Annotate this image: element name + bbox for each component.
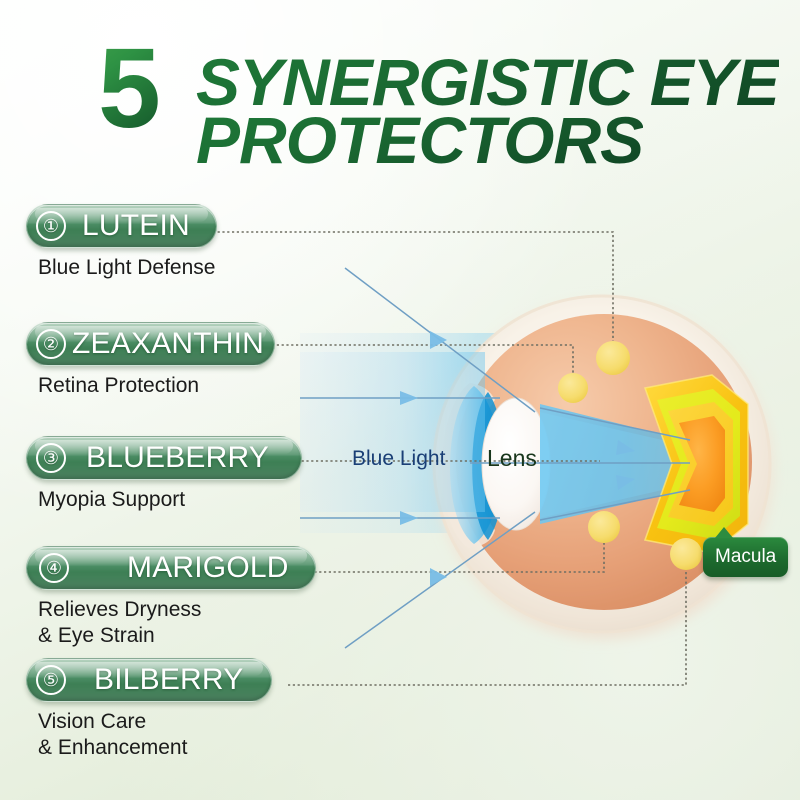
ingredient-item-bilberry[interactable]: ⑤ BILBERRY Vision Care & Enhancement	[0, 658, 272, 761]
ingredient-name-2: ZEAXANTHIN	[72, 329, 264, 359]
blue-light-label: Blue Light	[352, 448, 445, 469]
ingredient-description-4: Relieves Dryness & Eye Strain	[38, 597, 316, 649]
number-badge-5: ⑤	[36, 665, 66, 695]
ingredient-name-5: BILBERRY	[94, 665, 243, 695]
ingredient-pill-2[interactable]: ② ZEAXANTHIN	[26, 322, 275, 366]
ingredient-pill-4[interactable]: ④ MARIGOLD	[26, 546, 316, 590]
ingredient-name-4: MARIGOLD	[127, 553, 289, 583]
ingredient-name-1: LUTEIN	[82, 211, 190, 241]
number-badge-4: ④	[39, 553, 69, 583]
infographic-poster: 5 SYNERGISTIC EYE PROTECTORS	[0, 0, 800, 800]
ingredient-item-lutein[interactable]: ① LUTEIN Blue Light Defense	[0, 204, 217, 281]
ingredient-description-3: Myopia Support	[38, 487, 302, 513]
ingredient-pill-3[interactable]: ③ BLUEBERRY	[26, 436, 302, 480]
ingredient-description-5: Vision Care & Enhancement	[38, 709, 272, 761]
ingredient-name-3: BLUEBERRY	[86, 443, 269, 473]
nutrient-dot-4	[670, 538, 702, 570]
ingredient-item-blueberry[interactable]: ③ BLUEBERRY Myopia Support	[0, 436, 302, 513]
ingredient-item-marigold[interactable]: ④ MARIGOLD Relieves Dryness & Eye Strain	[0, 546, 316, 649]
ingredient-description-2: Retina Protection	[38, 373, 275, 399]
nutrient-dot-2	[558, 373, 588, 403]
number-badge-2: ②	[36, 329, 66, 359]
nutrient-dot-3	[588, 511, 620, 543]
ingredient-description-1: Blue Light Defense	[38, 255, 217, 281]
macula-callout-label: Macula	[715, 546, 776, 567]
number-badge-1: ①	[36, 211, 66, 241]
lens-label: Lens	[487, 447, 537, 470]
number-badge-3: ③	[36, 443, 66, 473]
macula-callout: Macula	[703, 537, 788, 577]
ingredient-pill-5[interactable]: ⑤ BILBERRY	[26, 658, 272, 702]
ingredient-item-zeaxanthin[interactable]: ② ZEAXANTHIN Retina Protection	[0, 322, 275, 399]
nutrient-dot-1	[596, 341, 630, 375]
incoming-blue-light	[300, 352, 485, 512]
ingredient-pill-1[interactable]: ① LUTEIN	[26, 204, 217, 248]
